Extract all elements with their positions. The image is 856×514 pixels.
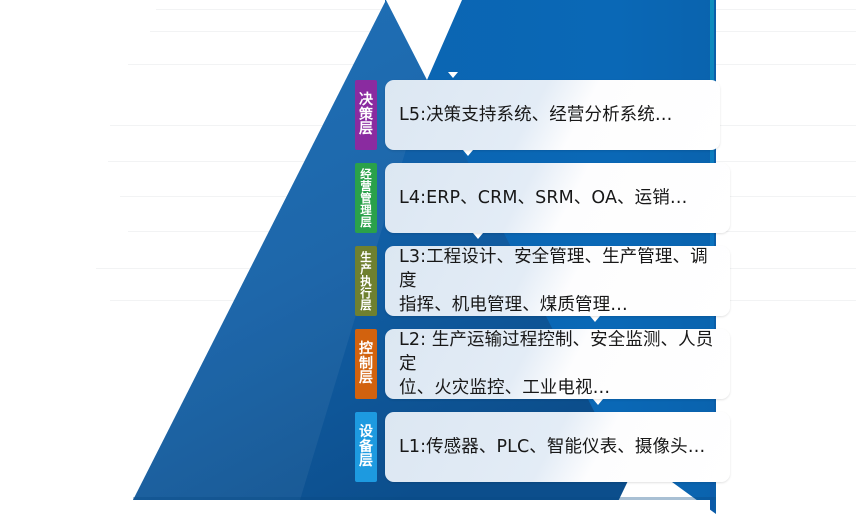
layer-tab-char: 层 [359, 122, 373, 137]
layer-text-l4: L4:ERP、CRM、SRM、OA、运销… [399, 186, 687, 210]
layer-box-l4[interactable]: L4:ERP、CRM、SRM、OA、运销… [385, 163, 730, 233]
layer-tab-char: 层 [360, 216, 372, 228]
layer-text-l2-line1: L2: 生产运输过程控制、安全监测、人员定 [399, 329, 716, 376]
layer-tab-char: 制 [359, 357, 373, 372]
layer-text-l3: L3:工程设计、安全管理、生产管理、调度 指挥、机电管理、煤质管理… [399, 246, 716, 316]
layer-tab-l2[interactable]: 控 制 层 [355, 329, 377, 399]
layer-tab-l5[interactable]: 决 策 层 [355, 80, 377, 150]
layer-box-l5[interactable]: L5:决策支持系统、经营分析系统… [385, 80, 720, 150]
layer-tab-char: 备 [359, 440, 373, 455]
layer-text-l3-line2: 指挥、机电管理、煤质管理… [399, 293, 716, 316]
layer-tab-l1[interactable]: 设 备 层 [355, 412, 377, 482]
layer-text-l3-line1: L3:工程设计、安全管理、生产管理、调度 [399, 246, 716, 293]
layer-tab-char: 策 [359, 108, 373, 123]
layer-tab-char: 决 [359, 93, 373, 108]
layer-box-l2[interactable]: L2: 生产运输过程控制、安全监测、人员定 位、火灾监控、工业电视… [385, 329, 730, 399]
connector-triangle-l4-l3 [473, 233, 483, 239]
layer-tab-char: 层 [359, 371, 373, 386]
layer-tab-char: 经 [360, 168, 372, 180]
layer-text-l2: L2: 生产运输过程控制、安全监测、人员定 位、火灾监控、工业电视… [399, 329, 716, 399]
connector-triangle-top [448, 72, 458, 78]
layer-box-l3[interactable]: L3:工程设计、安全管理、生产管理、调度 指挥、机电管理、煤质管理… [385, 246, 730, 316]
layer-tab-l4[interactable]: 经 营 管 理 层 [355, 163, 377, 233]
layer-tab-char: 控 [359, 342, 373, 357]
connector-triangle-l5-l4 [463, 150, 473, 156]
layer-row-l3[interactable]: 生 产 执 行 层 L3:工程设计、安全管理、生产管理、调度 指挥、机电管理、煤… [355, 246, 730, 316]
layer-row-l5[interactable]: 决 策 层 L5:决策支持系统、经营分析系统… [355, 80, 720, 150]
layer-tab-char: 层 [360, 299, 372, 311]
layer-box-l1[interactable]: L1:传感器、PLC、智能仪表、摄像头… [385, 412, 730, 482]
layer-row-l1[interactable]: 设 备 层 L1:传感器、PLC、智能仪表、摄像头… [355, 412, 730, 482]
pyramid-diagram-canvas: 决 策 层 L5:决策支持系统、经营分析系统… 经 营 管 理 层 L4:ERP… [0, 0, 856, 514]
layer-row-l4[interactable]: 经 营 管 理 层 L4:ERP、CRM、SRM、OA、运销… [355, 163, 730, 233]
layer-row-l2[interactable]: 控 制 层 L2: 生产运输过程控制、安全监测、人员定 位、火灾监控、工业电视… [355, 329, 730, 399]
layer-text-l2-line2: 位、火灾监控、工业电视… [399, 376, 716, 399]
connector-triangle-l3-l2 [590, 316, 600, 322]
layer-text-l1: L1:传感器、PLC、智能仪表、摄像头… [399, 435, 705, 459]
layer-tab-l3[interactable]: 生 产 执 行 层 [355, 246, 377, 316]
layer-tab-char: 生 [360, 251, 372, 263]
layer-tab-char: 层 [359, 454, 373, 469]
connector-triangle-l2-l1 [593, 399, 603, 405]
layer-tab-char: 设 [359, 425, 373, 440]
layer-text-l5: L5:决策支持系统、经营分析系统… [399, 103, 672, 127]
